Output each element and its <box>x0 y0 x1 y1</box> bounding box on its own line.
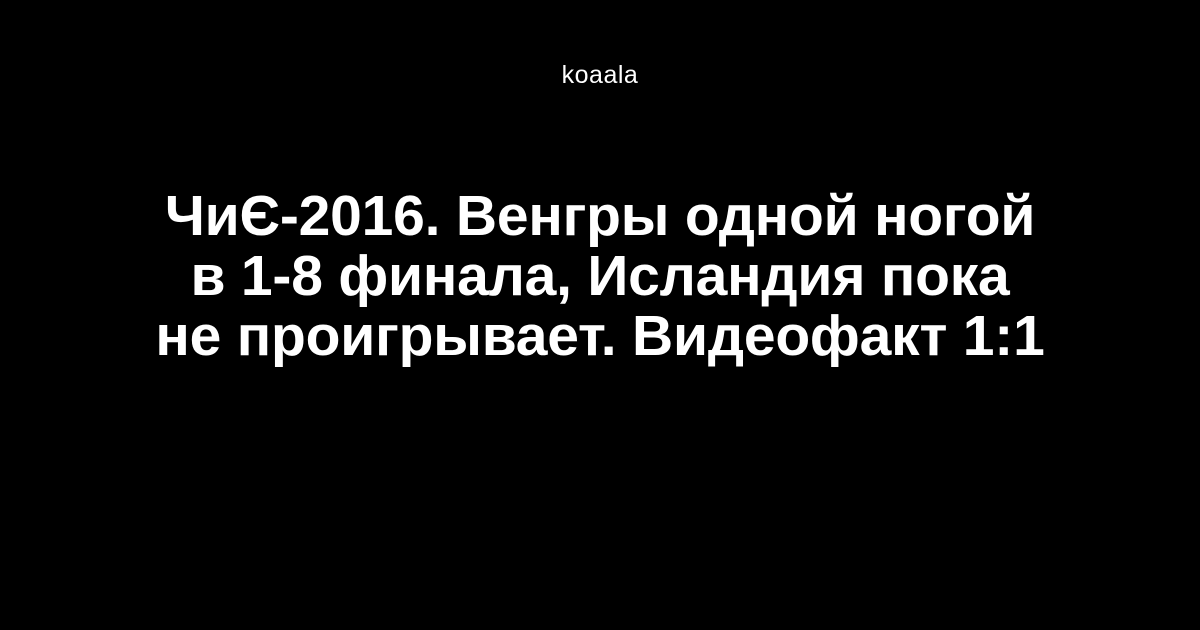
brand-header: koaala <box>0 0 1200 150</box>
empty-lower-region <box>0 400 1200 630</box>
site-brand-name: koaala <box>562 63 639 88</box>
article-headline: ЧиЄ-2016. Венгры одной ногой в 1-8 финал… <box>150 186 1050 366</box>
open-graph-preview-card: koaala ЧиЄ-2016. Венгры одной ногой в 1-… <box>0 0 1200 630</box>
headline-container: ЧиЄ-2016. Венгры одной ногой в 1-8 финал… <box>0 186 1200 366</box>
